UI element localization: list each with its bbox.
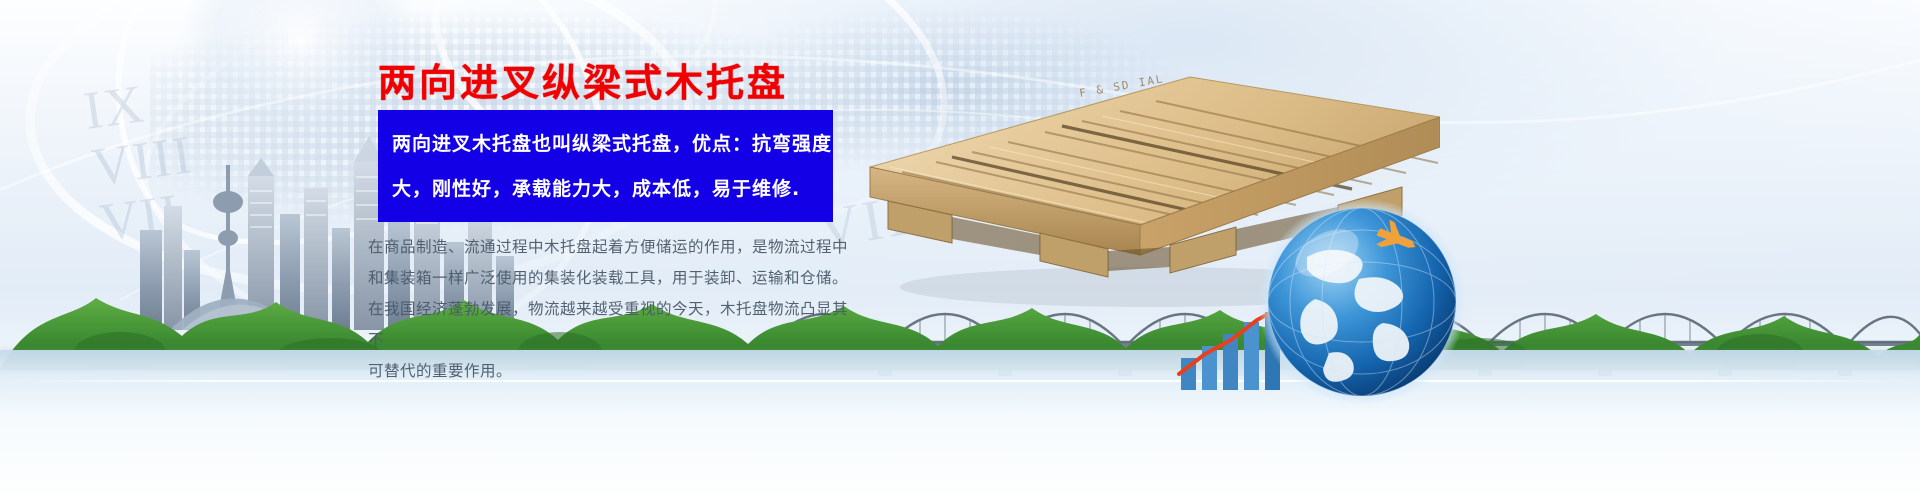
highlight-line-1: 两向进叉木托盘也叫纵梁式托盘，优点：抗弯强度 (392, 122, 819, 167)
description-paragraph: 在商品制造、流通过程中木托盘起着方便储运的作用，是物流过程中 和集装箱一样广泛使… (368, 232, 848, 387)
highlight-callout-box: 两向进叉木托盘也叫纵梁式托盘，优点：抗弯强度 大，刚性好，承载能力大，成本低，易… (378, 110, 833, 222)
description-line-1: 在商品制造、流通过程中木托盘起着方便储运的作用，是物流过程中 (368, 232, 848, 263)
highlight-line-2: 大，刚性好，承载能力大，成本低，易于维修. (392, 167, 819, 212)
page-title: 两向进叉纵梁式木托盘 (378, 52, 788, 107)
description-line-3: 在我国经济蓬勃发展，物流越来越受重视的今天，木托盘物流凸显其不 (368, 294, 848, 356)
product-banner: IXVIIIVII VII (0, 0, 1920, 500)
water-highlight-line (0, 380, 1920, 382)
globe-illustration (1255, 195, 1470, 410)
water-surface (0, 350, 1920, 500)
description-line-2: 和集装箱一样广泛使用的集装化装载工具，用于装卸、运输和仓储。 (368, 263, 848, 294)
description-line-4: 可替代的重要作用。 (368, 356, 848, 387)
